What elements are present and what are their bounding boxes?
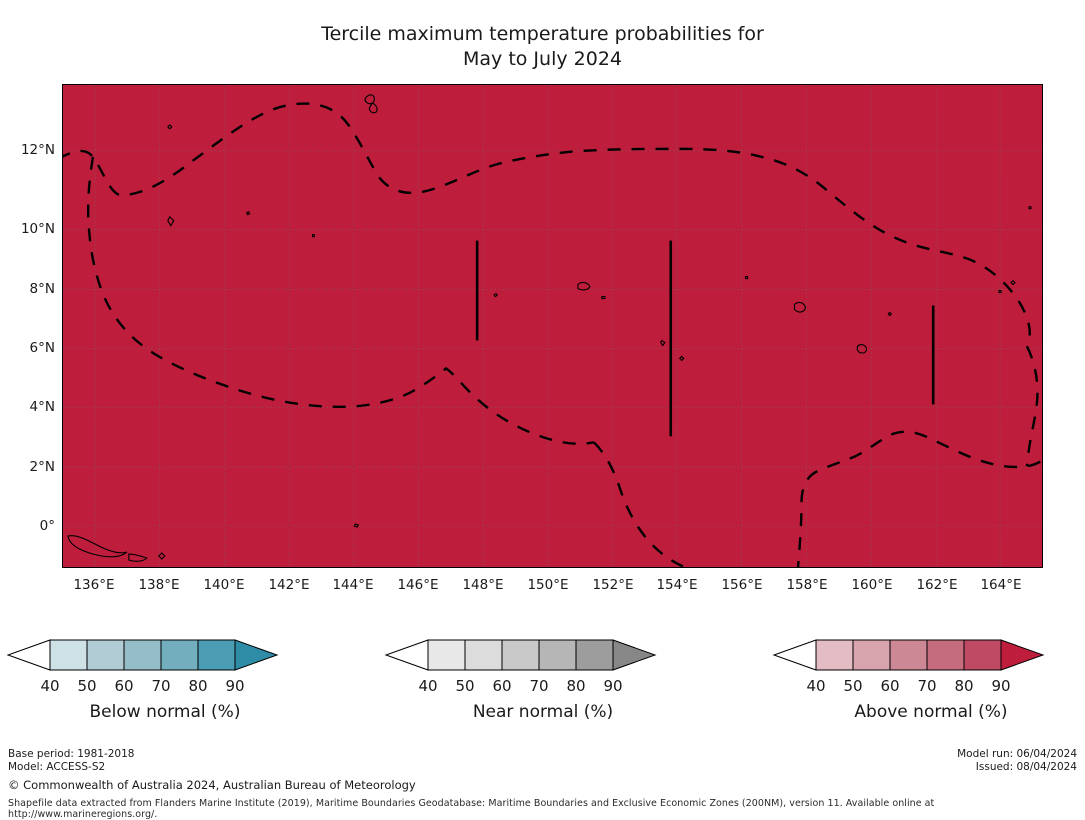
y-axis: 12°N 10°N 8°N 6°N 4°N 2°N 0° [0, 84, 55, 568]
colorbar-tick: 50 [67, 677, 107, 695]
y-tick-label: 6°N [1, 340, 55, 356]
copyright-text: © Commonwealth of Australia 2024, Austra… [8, 779, 416, 792]
colorbar-under-arrow [8, 640, 50, 670]
colorbar-swatch [853, 640, 890, 670]
colorbar-swatch [50, 640, 87, 670]
colorbar-over-arrow [613, 640, 655, 670]
shapefile-attribution-text: Shapefile data extracted from Flanders M… [8, 798, 1085, 820]
colorbar-swatch [927, 640, 964, 670]
colorbar-near-normal: 40 50 60 70 80 90 Near normal (%) [378, 636, 708, 722]
colorbar-tick: 50 [833, 677, 873, 695]
colorbar-tick: 80 [944, 677, 984, 695]
colorbar-tick: 60 [870, 677, 910, 695]
footer-left: Base period: 1981-2018 Model: ACCESS-S2 … [8, 748, 416, 792]
colorbar-near-normal-ticks: 40 50 60 70 80 90 [378, 677, 708, 699]
y-tick-label: 2°N [1, 459, 55, 475]
colorbar-swatch [964, 640, 1001, 670]
base-period-text: Base period: 1981-2018 [8, 748, 416, 761]
eez-boundary-path-east [1027, 346, 1037, 466]
y-tick-label: 8°N [1, 281, 55, 297]
colorbar-tick: 60 [104, 677, 144, 695]
colorbar-swatch [198, 640, 235, 670]
colorbar-tick: 70 [519, 677, 559, 695]
map-panel[interactable] [62, 84, 1043, 568]
colorbar-tick: 40 [796, 677, 836, 695]
footer-right: Model run: 06/04/2024 Issued: 08/04/2024 [957, 748, 1077, 774]
colorbar-swatch [539, 640, 576, 670]
map-boundary-layer [63, 85, 1042, 568]
colorbar-over-arrow [235, 640, 277, 670]
colorbar-above-normal-swatches [766, 636, 1085, 676]
colorbar-above-normal-caption: Above normal (%) [766, 702, 1085, 722]
colorbar-tick: 70 [141, 677, 181, 695]
colorbar-swatch [161, 640, 198, 670]
y-tick-label: 0° [1, 518, 55, 534]
colorbar-tick: 40 [30, 677, 70, 695]
colorbar-swatch [87, 640, 124, 670]
colorbar-swatch [502, 640, 539, 670]
colorbar-tick: 80 [556, 677, 596, 695]
colorbar-tick: 80 [178, 677, 218, 695]
colorbar-over-arrow [1001, 640, 1043, 670]
colorbar-under-arrow [774, 640, 816, 670]
colorbar-tick: 60 [482, 677, 522, 695]
colorbar-near-normal-swatches [378, 636, 708, 676]
colorbar-tick: 50 [445, 677, 485, 695]
colorbar-swatch [816, 640, 853, 670]
model-run-text: Model run: 06/04/2024 [957, 748, 1077, 761]
colorbar-swatch [465, 640, 502, 670]
colorbar-tick: 90 [215, 677, 255, 695]
colorbar-swatch [890, 640, 927, 670]
x-tick-label: 164°E [961, 577, 1041, 593]
colorbar-near-normal-caption: Near normal (%) [378, 702, 708, 722]
eez-boundary-path-south [594, 442, 798, 568]
issued-text: Issued: 08/04/2024 [957, 761, 1077, 774]
colorbar-below-normal: 40 50 60 70 80 90 Below normal (%) [0, 636, 330, 722]
colorbar-tick: 90 [593, 677, 633, 695]
x-axis: 136°E 138°E 140°E 142°E 144°E 146°E 148°… [62, 577, 1043, 597]
colorbar-tick: 90 [981, 677, 1021, 695]
y-tick-label: 12°N [1, 142, 55, 158]
colorbar-above-normal-ticks: 40 50 60 70 80 90 [766, 677, 1085, 699]
eez-boundary-path-southeast [797, 432, 1041, 568]
colorbar-under-arrow [386, 640, 428, 670]
colorbar-above-normal: 40 50 60 70 80 90 Above normal (%) [766, 636, 1085, 722]
island-outlines [68, 95, 1031, 562]
eez-boundary-path-lower-left [88, 157, 594, 444]
eez-boundary-path [63, 104, 1030, 347]
colorbar-swatch [576, 640, 613, 670]
colorbar-below-normal-ticks: 40 50 60 70 80 90 [0, 677, 330, 699]
model-text: Model: ACCESS-S2 [8, 761, 416, 774]
colorbar-below-normal-caption: Below normal (%) [0, 702, 330, 722]
colorbar-tick: 40 [408, 677, 448, 695]
colorbar-swatch [124, 640, 161, 670]
colorbar-below-normal-swatches [0, 636, 330, 676]
colorbar-swatch [428, 640, 465, 670]
y-tick-label: 10°N [1, 221, 55, 237]
colorbar-tick: 70 [907, 677, 947, 695]
y-tick-label: 4°N [1, 399, 55, 415]
page-title: Tercile maximum temperature probabilitie… [0, 22, 1085, 72]
